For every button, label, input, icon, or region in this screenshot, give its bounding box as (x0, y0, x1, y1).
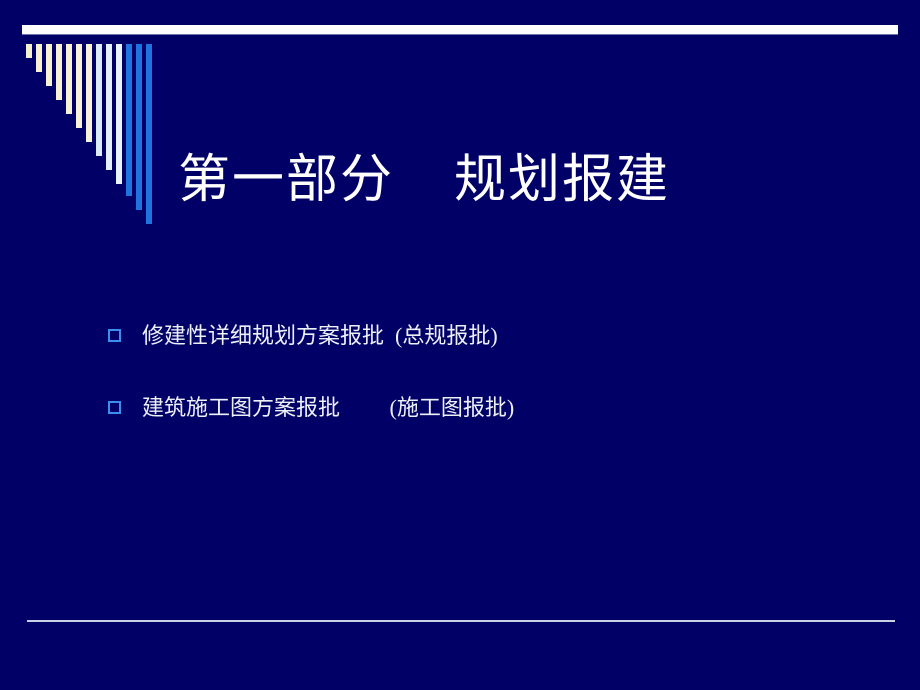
decorative-bar (116, 44, 122, 184)
decorative-bar (76, 44, 82, 128)
decorative-bar (86, 44, 92, 142)
decorative-bar (146, 44, 152, 224)
decorative-bar (26, 44, 32, 58)
list-item-label: 修建性详细规划方案报批 (总规报批) (142, 322, 498, 350)
list-item: 修建性详细规划方案报批 (总规报批) (108, 322, 848, 350)
decorative-bar (126, 44, 132, 196)
presentation-slide: 第一部分 规划报建 修建性详细规划方案报批 (总规报批) 建筑施工图方案报批 (… (0, 0, 920, 690)
bullet-list: 修建性详细规划方案报批 (总规报批) 建筑施工图方案报批 (施工图报批) (108, 322, 848, 465)
bottom-divider-line (27, 620, 895, 622)
decorative-bar (136, 44, 142, 210)
list-item: 建筑施工图方案报批 (施工图报批) (108, 394, 848, 422)
hollow-square-bullet-icon (108, 329, 121, 342)
decorative-bar (46, 44, 52, 86)
top-divider-bar (22, 25, 898, 34)
slide-title: 第一部分 规划报建 (178, 150, 818, 211)
list-item-label: 建筑施工图方案报批 (施工图报批) (142, 394, 514, 422)
decorative-bar-group (26, 44, 156, 194)
decorative-bar (96, 44, 102, 156)
decorative-bar (66, 44, 72, 114)
hollow-square-bullet-icon (108, 401, 121, 414)
decorative-bar (56, 44, 62, 100)
decorative-bar (106, 44, 112, 170)
decorative-bar (36, 44, 42, 72)
